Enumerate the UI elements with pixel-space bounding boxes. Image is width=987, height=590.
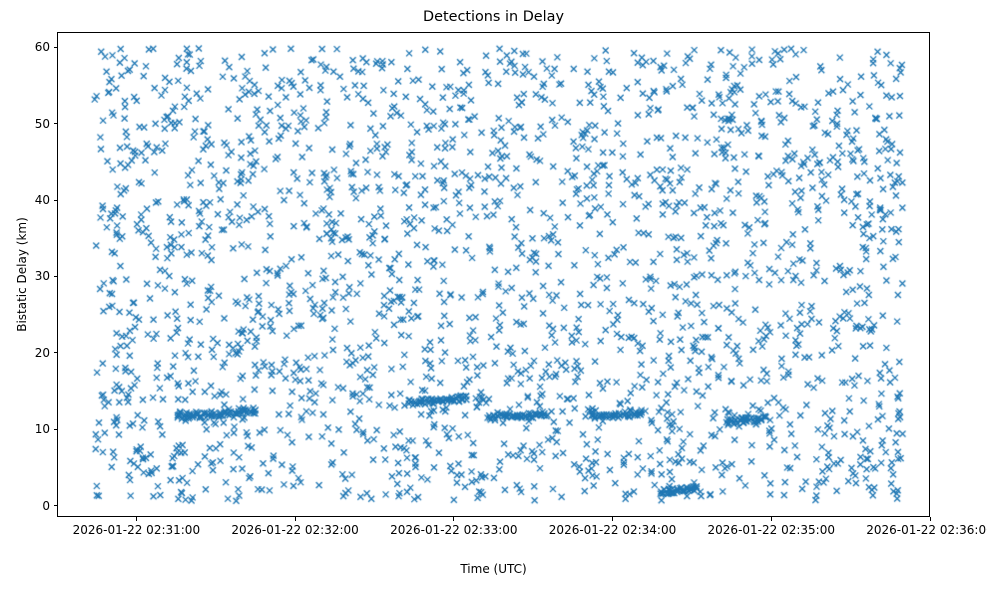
x-tick-mark (453, 517, 454, 521)
scatter-points-layer (58, 33, 929, 516)
x-tick-mark (612, 517, 613, 521)
x-tick-label: 2026-01-22 02:31:00 (36, 523, 236, 537)
plot-axes-area (57, 32, 930, 517)
x-tick-label: 2026-01-22 02:33:00 (354, 523, 554, 537)
x-tick-mark (295, 517, 296, 521)
x-tick-label: 2026-01-22 02:36:00 (830, 523, 987, 537)
matplotlib-figure: Detections in Delay 0102030405060 2026-0… (0, 0, 987, 590)
x-tick-mark (930, 517, 931, 521)
chart-title: Detections in Delay (0, 8, 987, 26)
x-tick-label: 2026-01-22 02:35:00 (671, 523, 871, 537)
x-tick-mark (771, 517, 772, 521)
x-axis-label: Time (UTC) (57, 561, 930, 577)
x-tick-mark (136, 517, 137, 521)
y-axis-label: Bistatic Delay (km) (14, 32, 30, 517)
x-tick-label: 2026-01-22 02:34:00 (513, 523, 713, 537)
x-tick-label: 2026-01-22 02:32:00 (195, 523, 395, 537)
